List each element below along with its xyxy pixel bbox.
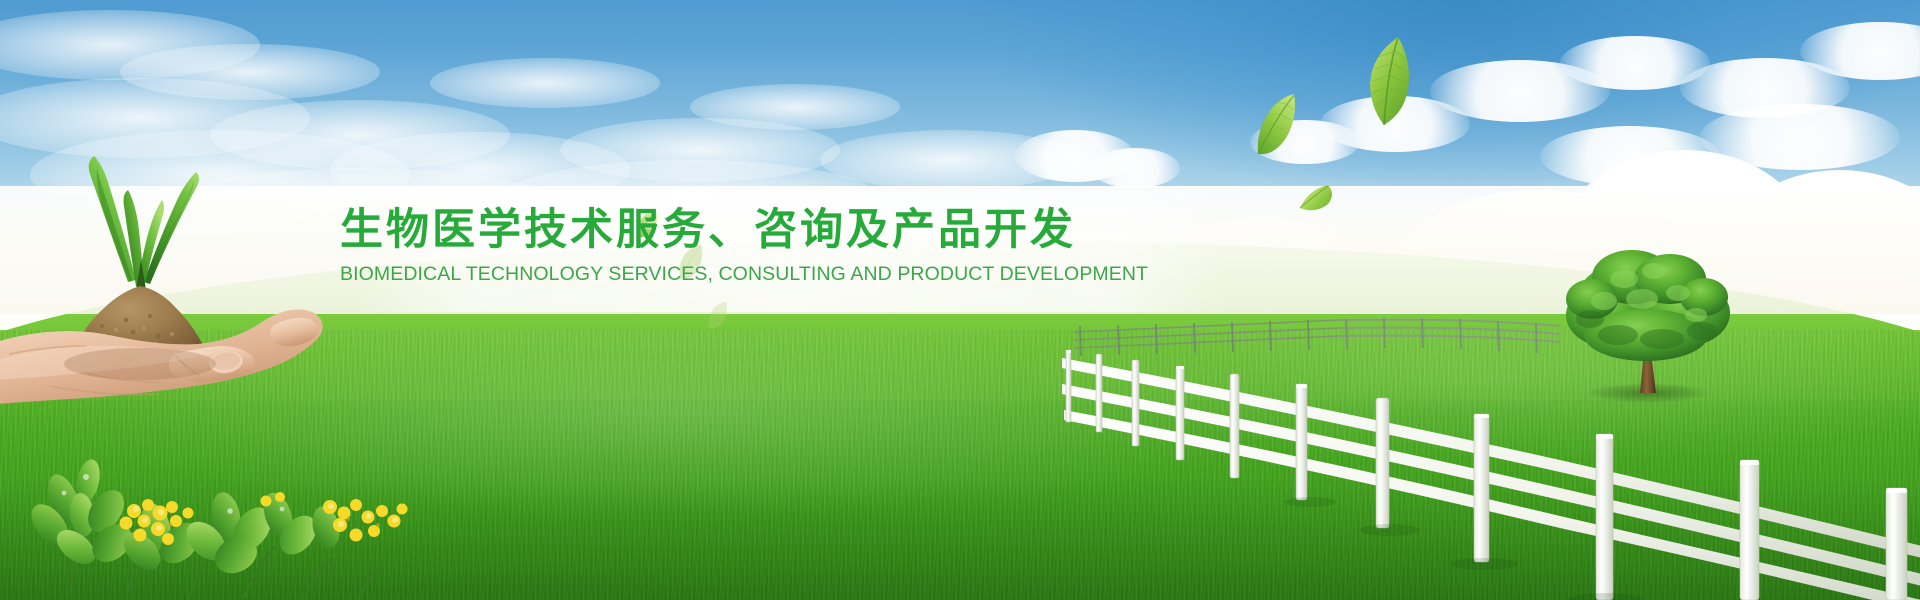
page-subtitle: BIOMEDICAL TECHNOLOGY SERVICES, CONSULTI… bbox=[340, 263, 1040, 286]
banner-text-block: 生物医学技术服务、咨询及产品开发 BIOMEDICAL TECHNOLOGY S… bbox=[340, 206, 1040, 286]
falling-leaf-icon bbox=[1358, 33, 1416, 134]
falling-leaf-icon bbox=[1252, 88, 1300, 165]
hero-banner: 生物医学技术服务、咨询及产品开发 BIOMEDICAL TECHNOLOGY S… bbox=[0, 0, 1920, 600]
sprout-leaves bbox=[89, 156, 199, 290]
falling-leaf-icon bbox=[706, 300, 730, 335]
hand-with-sprout-image bbox=[0, 140, 370, 400]
page-title: 生物医学技术服务、咨询及产品开发 bbox=[340, 206, 1040, 254]
yellow-flowers-cluster bbox=[30, 455, 420, 600]
falling-leaf-icon bbox=[1298, 182, 1338, 221]
white-rail-fence bbox=[1040, 310, 1920, 600]
leaf-shapes bbox=[30, 457, 344, 580]
